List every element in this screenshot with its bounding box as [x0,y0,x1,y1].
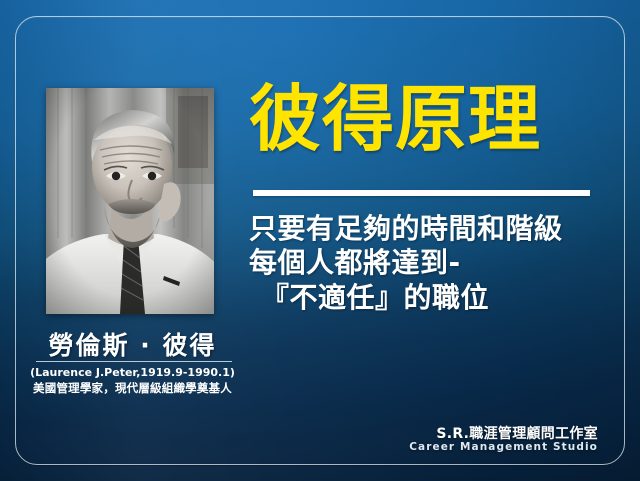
studio-logo: S.R.職涯管理顧問工作室 Career Management Studio [409,427,598,453]
studio-name-cn: S.R.職涯管理顧問工作室 [409,427,598,442]
subtitle-line-3: 『不適任』的職位 [249,281,629,315]
portrait-photo-graphic [46,88,214,314]
person-bio: 美國管理學家，現代層級組織學奠基人 [26,380,239,396]
name-divider [36,361,232,362]
portrait-photo [46,88,214,314]
person-latin-name: (Laurence J.Peter,1919.9-1990.1) [30,366,235,379]
subtitle-line-2: 每個人都將達到- [249,246,629,280]
subtitle-block: 只要有足夠的時間和階級 每個人都將達到- 『不適任』的職位 [249,212,629,315]
subtitle-line-1: 只要有足夠的時間和階級 [249,212,629,246]
page-title: 彼得原理 [249,83,609,156]
slide-canvas: 彼得原理 只要有足夠的時間和階級 每個人都將達到- 『不適任』的職位 勞倫斯 ·… [0,0,640,481]
person-name: 勞倫斯 · 彼得 [30,326,235,362]
title-divider [253,190,590,196]
studio-name-en: Career Management Studio [409,442,598,453]
